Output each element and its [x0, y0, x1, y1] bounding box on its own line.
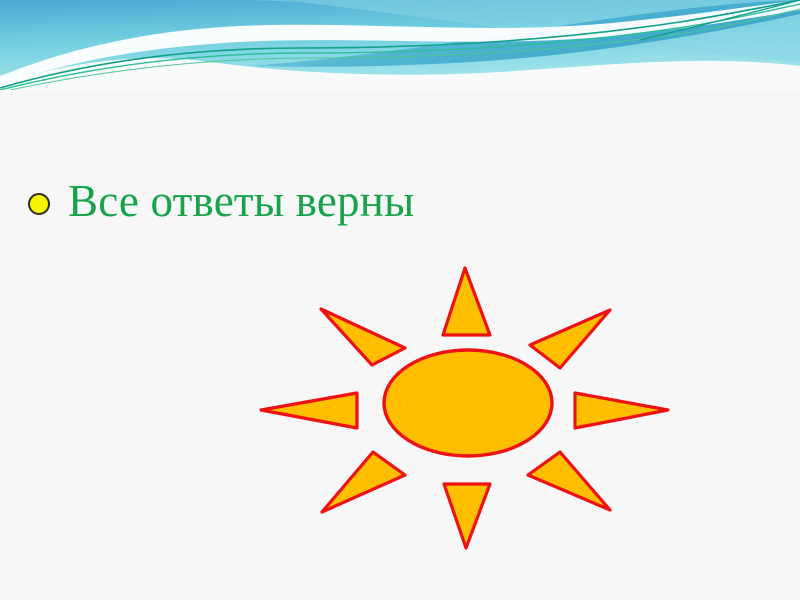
slide-header-banner — [0, 0, 800, 90]
bullet-list-item: Все ответы верны — [28, 178, 414, 225]
filled-circle-bullet-icon — [28, 193, 50, 215]
ray-east-icon — [575, 393, 668, 428]
presentation-slide: Все ответы верны — [0, 0, 800, 600]
ray-south-icon — [444, 484, 490, 548]
ray-west-icon — [261, 393, 357, 428]
sun-clipart — [250, 255, 680, 560]
ray-southeast-icon — [528, 452, 610, 510]
sun-core-icon — [384, 350, 552, 456]
ray-north-icon — [443, 268, 490, 335]
ray-northeast-icon — [530, 310, 610, 368]
ray-southwest-icon — [322, 452, 405, 512]
ray-northwest-icon — [321, 309, 405, 365]
bullet-item-text: Все ответы верны — [68, 178, 414, 225]
